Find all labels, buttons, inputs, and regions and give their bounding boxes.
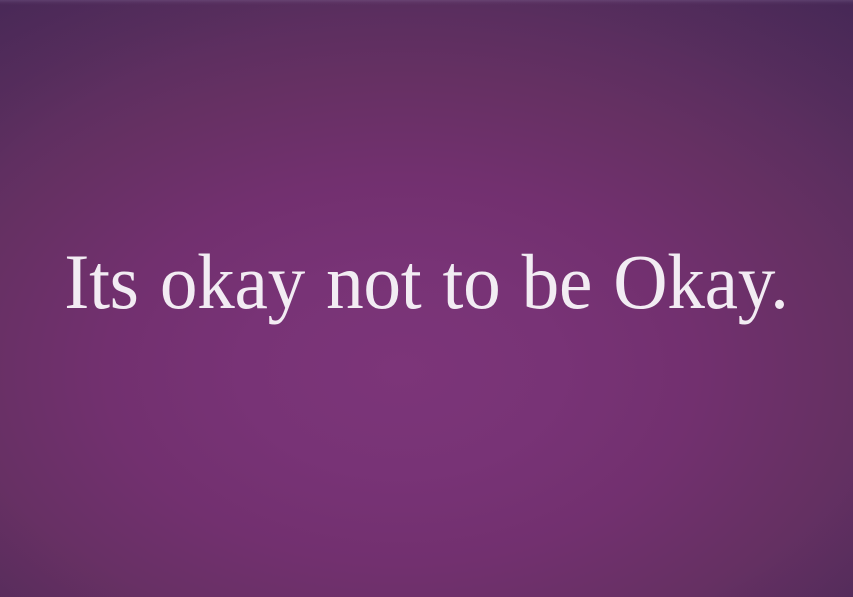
poster-content-area: Its okay not to be Okay. <box>0 0 853 597</box>
quote-poster: Its okay not to be Okay. <box>0 0 853 597</box>
quote-text: Its okay not to be Okay. <box>15 243 838 321</box>
